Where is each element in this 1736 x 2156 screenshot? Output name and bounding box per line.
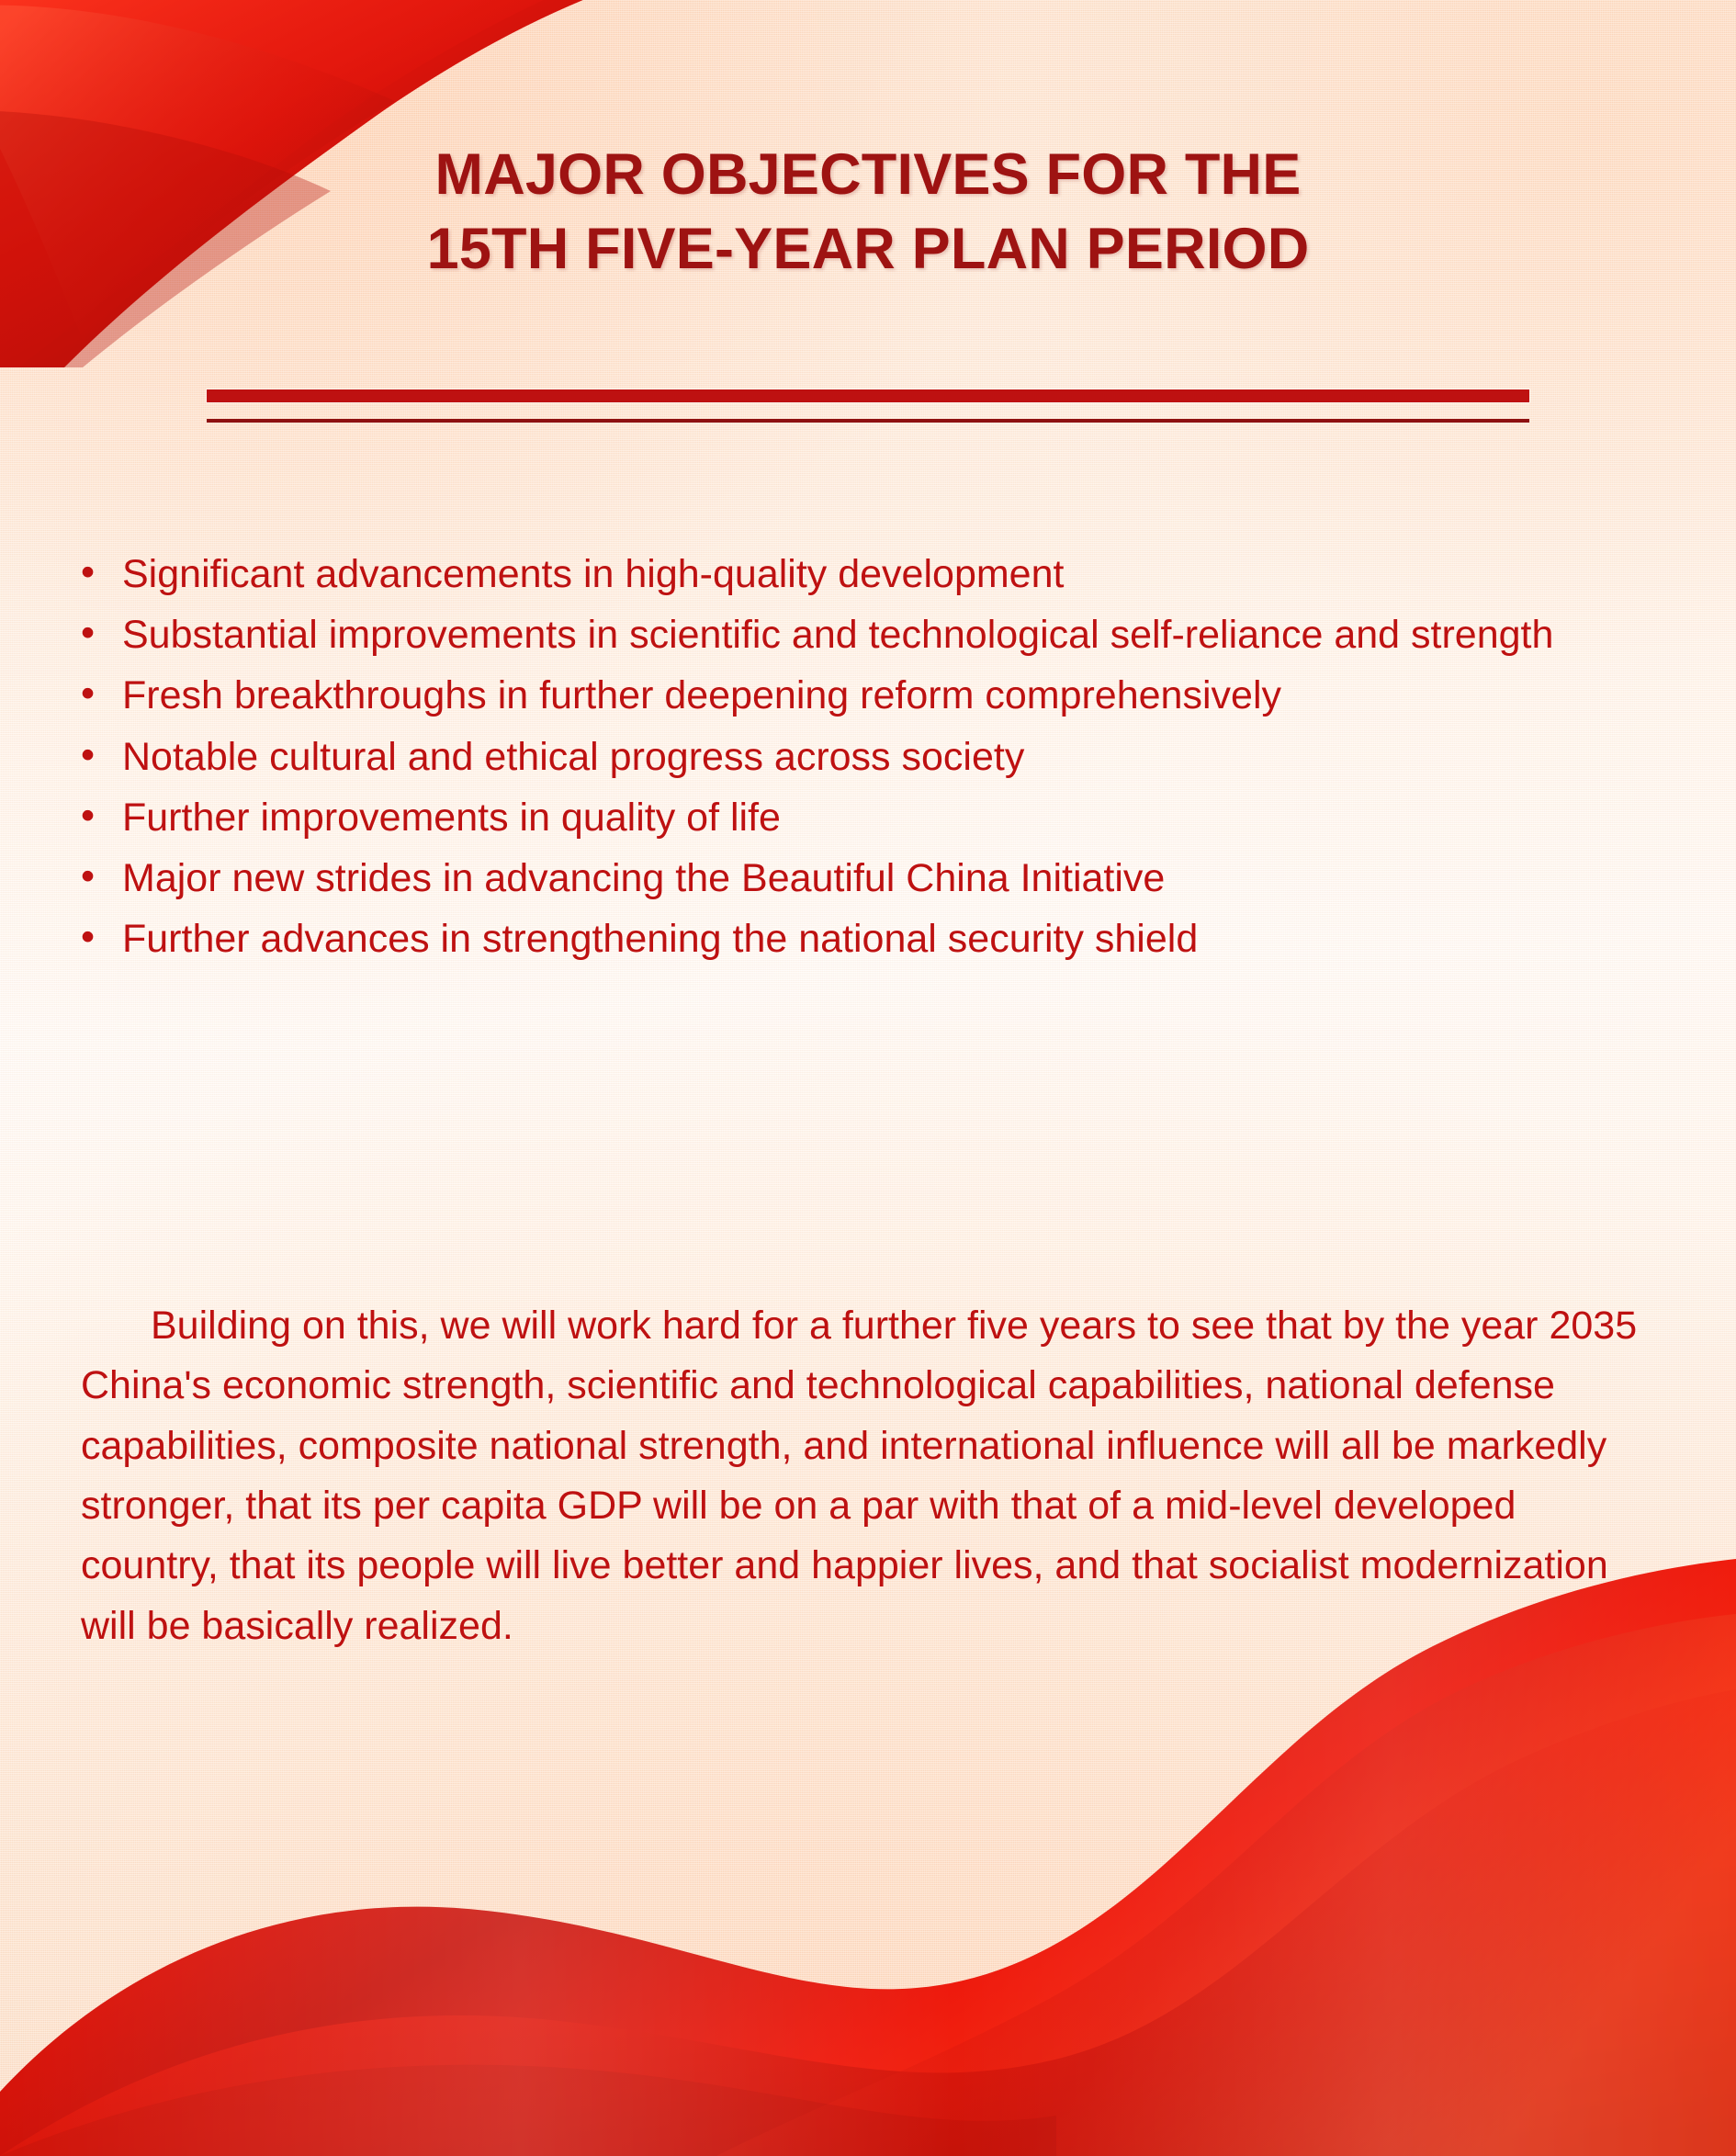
title-line-1: MAJOR OBJECTIVES FOR THE [0,138,1736,212]
title-divider [207,389,1529,423]
objectives-list: Significant advancements in high-quality… [81,549,1697,975]
poster-content: MAJOR OBJECTIVES FOR THE 15TH FIVE-YEAR … [0,0,1736,2156]
list-item: Significant advancements in high-quality… [81,549,1697,599]
poster-page: MAJOR OBJECTIVES FOR THE 15TH FIVE-YEAR … [0,0,1736,2156]
closing-paragraph: Building on this, we will work hard for … [81,1296,1642,1656]
page-title: MAJOR OBJECTIVES FOR THE 15TH FIVE-YEAR … [0,138,1736,286]
title-line-2: 15TH FIVE-YEAR PLAN PERIOD [0,212,1736,287]
list-item: Substantial improvements in scientific a… [81,610,1697,660]
list-item: Fresh breakthroughs in further deepening… [81,671,1697,720]
list-item: Major new strides in advancing the Beaut… [81,853,1697,903]
list-item: Further advances in strengthening the na… [81,914,1697,964]
divider-thin-line [207,419,1529,423]
list-item: Notable cultural and ethical progress ac… [81,732,1697,782]
divider-thick-bar [207,389,1529,402]
list-item: Further improvements in quality of life [81,793,1697,842]
